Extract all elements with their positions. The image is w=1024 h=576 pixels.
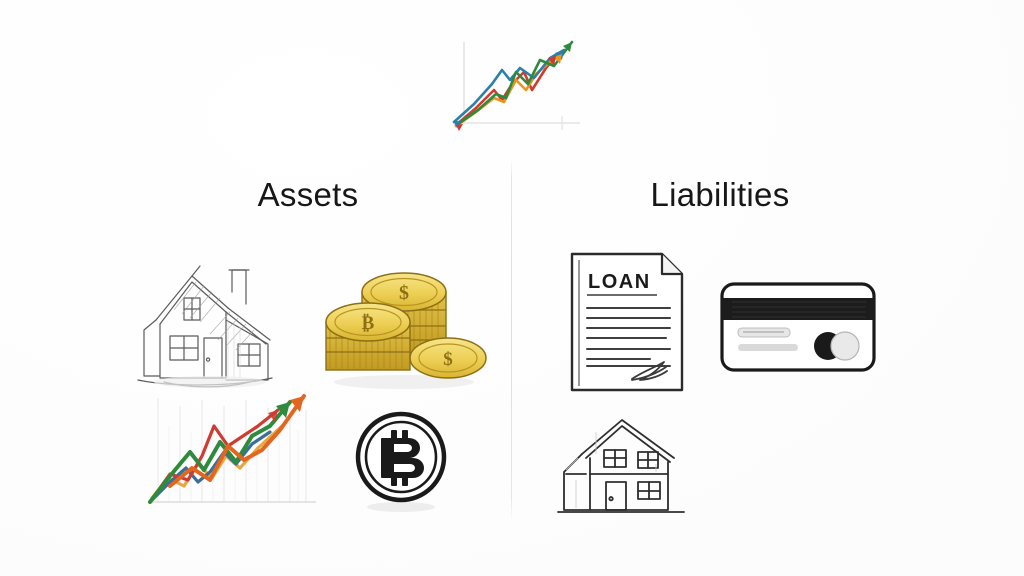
gold-coins-icon: $ ₿ $ [318,258,490,392]
loan-document-icon: LOAN [562,246,692,396]
infographic-canvas: Assets Liabilities [0,0,1024,576]
svg-text:₿: ₿ [362,313,375,334]
credit-card-icon [716,276,880,376]
house-line-icon [556,414,688,520]
bitcoin-coin-icon [345,404,457,516]
rising-multiline-chart-icon [440,28,590,140]
svg-text:$: $ [443,349,453,370]
house-sketch-icon [130,248,278,394]
growth-chart-icon [140,386,320,522]
loan-document-heading: LOAN [588,271,651,293]
column-divider [511,158,512,520]
assets-column-title: Assets [128,176,488,214]
svg-text:$: $ [399,282,409,304]
liabilities-column-title: Liabilities [540,176,900,214]
